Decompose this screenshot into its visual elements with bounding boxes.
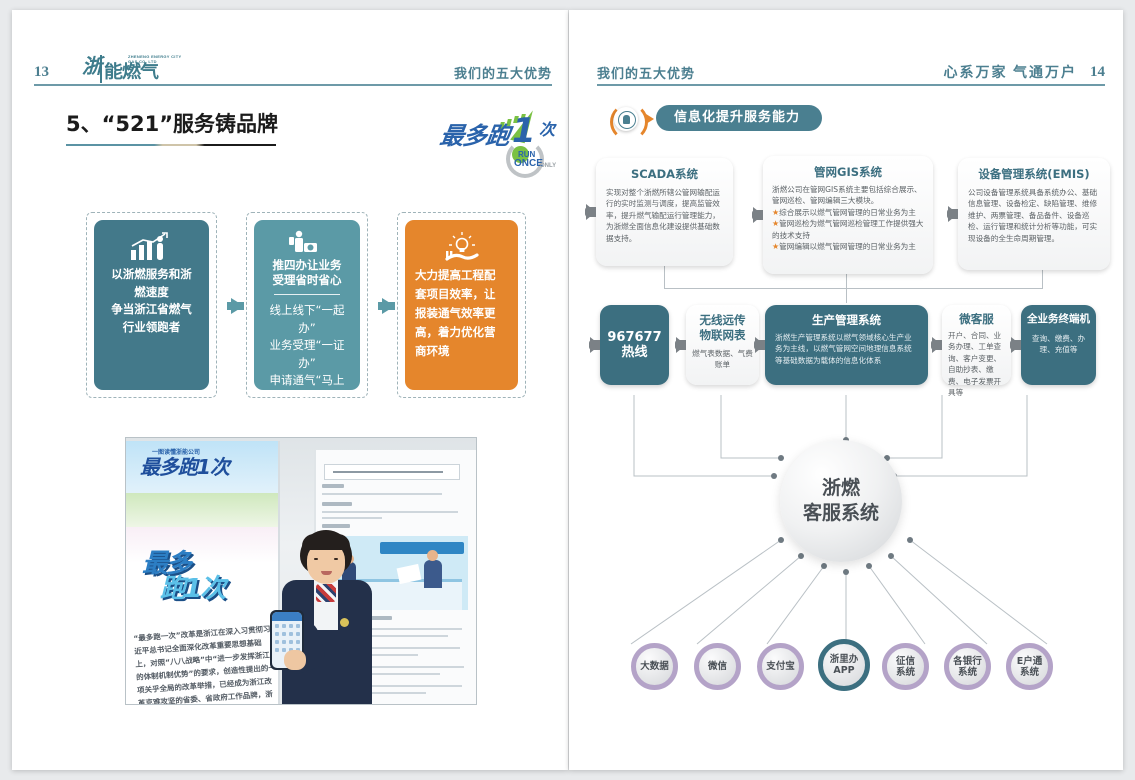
- card-3-body: 大力提高工程配 套项目效率，让 报装通气效率更 高，着力优化营 商环境: [415, 266, 508, 361]
- card-3-line-2: 套项目效率，让: [415, 285, 508, 304]
- card-3[interactable]: 大力提高工程配 套项目效率，让 报装通气效率更 高，着力优化营 商环境: [405, 220, 518, 390]
- card-3-line-5: 商环境: [415, 342, 508, 361]
- connector-scada-down: [664, 266, 665, 288]
- channel-ehutong-line-2: 系统: [1017, 667, 1043, 678]
- photo-customer-head: [427, 550, 438, 561]
- logo-zhe-character: 浙: [82, 57, 102, 77]
- left-page-header: 13 浙 ZHENENG ENERGY CITY GAS CO. LTD 能燃气…: [34, 48, 552, 86]
- node-production-mgmt[interactable]: 生产管理系统 浙燃生产管理系统以燃气领域核心生产业务为主线，以燃气管网空间地理信…: [765, 305, 928, 385]
- node-gis-bullet-1: ★综合展示以燃气管网管理的日常业务为主: [772, 207, 924, 218]
- right-page-header: 我们的五大优势 心系万家 气通万户 14: [597, 48, 1105, 86]
- connector-emis-down: [1042, 270, 1043, 288]
- channel-wechat[interactable]: 微信: [694, 643, 741, 690]
- photo-person-fringe: [302, 534, 350, 550]
- flow-arrow-1: [231, 298, 244, 314]
- channel-big-data[interactable]: 大数据: [631, 643, 678, 690]
- card-1-line-3: 争当浙江省燃气: [104, 301, 199, 319]
- card-2-heading-2: 受理省时省心: [264, 273, 350, 288]
- brand-text-most-run: 最多跑: [438, 124, 510, 148]
- brand-sub-only: ONLY: [540, 162, 556, 171]
- brand-suffix-ci: 次: [539, 122, 555, 138]
- card-3-line-3: 报装通气效率更: [415, 304, 508, 323]
- node-hotline-nub: [590, 337, 600, 353]
- node-gis[interactable]: 管网GIS系统 浙燃公司在管网GIS系统主要包括综合展示、管网巡检、管网编辑三大…: [763, 156, 933, 274]
- node-production-title: 生产管理系统: [775, 313, 918, 328]
- hub-label: 浙燃 客服系统: [803, 476, 879, 526]
- card-3-line-4: 高，着力优化营: [415, 323, 508, 342]
- card-2-heading-1: 推四办让业务: [264, 258, 350, 273]
- channel-banks-label: 各银行 系统: [953, 656, 982, 678]
- node-gis-bullet-2: ★管网巡检为燃气管网巡检管理工作提供强大的技术支持: [772, 218, 924, 241]
- left-section-tag: 我们的五大优势: [454, 67, 552, 80]
- node-emis[interactable]: 设备管理系统(EMIS) 公司设备管理系统具备系统办公、基础信息管理、设备检定、…: [958, 158, 1110, 270]
- node-micro-service-nub: [932, 337, 942, 353]
- channel-credit-system[interactable]: 征信 系统: [882, 643, 929, 690]
- node-hotline-number: 967677: [607, 330, 661, 345]
- node-gis-bullet-3-text: 管网编辑以燃气管网管理的日常业务为主: [779, 242, 916, 251]
- node-hotline[interactable]: 967677 热线: [600, 305, 669, 385]
- node-gis-nub: [753, 207, 763, 223]
- node-gis-text: 浙燃公司在管网GIS系统主要包括综合展示、管网巡检、管网编辑三大模块。: [772, 184, 924, 207]
- channel-credit-label: 征信 系统: [896, 656, 915, 678]
- run-once-only-logo: 最多跑 1 次 RUN ONCE ONLY: [440, 110, 558, 170]
- card-1-line-2: 燃速度: [104, 284, 199, 302]
- node-gis-bullet-1-text: 综合展示以燃气管网管理的日常业务为主: [779, 208, 916, 217]
- photo-customer-figure: [424, 560, 442, 588]
- node-terminal-nub: [1011, 337, 1021, 353]
- channel-credit-line-1: 征信: [896, 656, 915, 667]
- channel-ehutong[interactable]: E户通 系统: [1006, 643, 1053, 690]
- left-page-number: 13: [34, 65, 49, 80]
- node-gis-bullet-3: ★管网编辑以燃气管网管理的日常业务为主: [772, 241, 924, 252]
- left-page: 13 浙 ZHENENG ENERGY CITY GAS CO. LTD 能燃气…: [12, 10, 568, 770]
- photo-slogan-bar: [380, 542, 464, 554]
- node-production-text: 浙燃生产管理系统以燃气领域核心生产业务为主线，以燃气管网空间地理信息系统等基础数…: [775, 332, 918, 366]
- channel-zhelibanapp[interactable]: 浙里办 APP: [818, 639, 870, 691]
- photo-board-text-block-top: [322, 484, 468, 528]
- node-emis-title: 设备管理系统(EMIS): [968, 167, 1100, 182]
- card-2-body: 线上线下“一起办” 业务受理“一证办” 申请通气“马上办” 服务上门“现场办”: [264, 302, 350, 442]
- card-wrapper-2: 推四办让业务 受理省时省心 线上线下“一起办” 业务受理“一证办” 申请通气“马…: [246, 212, 368, 398]
- node-gis-title: 管网GIS系统: [772, 165, 924, 180]
- node-iot-meter[interactable]: 无线远传 物联网表 燃气表数据、气费账单: [686, 305, 759, 385]
- company-logo: 浙 ZHENENG ENERGY CITY GAS CO. LTD 能燃气: [82, 54, 177, 84]
- channel-banks[interactable]: 各银行 系统: [944, 643, 991, 690]
- node-scada-nub: [586, 204, 596, 220]
- channel-alipay-label: 支付宝: [766, 661, 795, 672]
- card-1-line-4: 行业领跑者: [104, 319, 199, 337]
- photo-left-banner: 一图读懂浙能公司 最多跑1次 最多 跑1次 “最多跑一次”改革是浙江在深入习贯彻…: [126, 441, 280, 705]
- node-micro-service[interactable]: 微客服 开户、合同、业务办理、工单查询、客户变更、自助抄表、缴费、电子发票开具等: [942, 305, 1011, 385]
- page-title-underline: [66, 144, 276, 146]
- person-service-icon: [264, 230, 350, 258]
- card-wrapper-3: 大力提高工程配 套项目效率，让 报装通气效率更 高，着力优化营 商环境: [397, 212, 526, 398]
- channel-zhelibanapp-label: 浙里办 APP: [830, 654, 859, 676]
- header-slogan: 心系万家 气通万户: [944, 67, 1078, 81]
- brand-sub-once: ONCE: [514, 159, 543, 168]
- card-2[interactable]: 推四办让业务 受理省时省心 线上线下“一起办” 业务受理“一证办” 申请通气“马…: [254, 220, 360, 390]
- customer-service-hub[interactable]: 浙燃 客服系统: [780, 440, 902, 562]
- card-1[interactable]: 以浙燃服务和浙 燃速度 争当浙江省燃气 行业领跑者: [94, 220, 209, 390]
- page-title: 5、“521”服务铸品牌: [66, 114, 278, 135]
- node-micro-service-title: 微客服: [948, 312, 1005, 327]
- strategy-cards: 以浙燃服务和浙 燃速度 争当浙江省燃气 行业领跑者: [86, 212, 526, 398]
- channel-ehutong-label: E户通 系统: [1017, 656, 1043, 678]
- photo-person-badge: [340, 618, 349, 627]
- hub-label-line-1: 浙燃: [803, 476, 879, 501]
- connector-bus-to-production: [846, 288, 847, 303]
- connector-bus-horizontal: [664, 288, 1043, 289]
- brand-numeral-one: 1: [512, 114, 536, 148]
- bar-chart-growth-icon: [104, 232, 199, 266]
- card-2-line-3: 申请通气“马上办”: [264, 372, 350, 407]
- photo-person-hand: [284, 650, 306, 670]
- header-rule: [34, 84, 552, 86]
- book-spread: 13 浙 ZHENENG ENERGY CITY GAS CO. LTD 能燃气…: [0, 0, 1135, 780]
- node-iot-meter-nub: [676, 337, 686, 353]
- touch-hand-icon: [623, 115, 630, 124]
- node-terminal-title: 全业务终端机: [1027, 312, 1090, 327]
- node-iot-meter-text: 燃气表数据、气费账单: [692, 348, 753, 371]
- card-wrapper-1: 以浙燃服务和浙 燃速度 争当浙江省燃气 行业领跑者: [86, 212, 217, 398]
- node-gis-bullet-2-text: 管网巡检为燃气管网巡检管理工作提供强大的技术支持: [772, 219, 923, 239]
- node-terminal[interactable]: 全业务终端机 查询、缴费、办理、充值等: [1021, 305, 1096, 385]
- channel-alipay[interactable]: 支付宝: [757, 643, 804, 690]
- banner-arrow-icon: [646, 114, 654, 124]
- card-2-divider: [274, 294, 340, 295]
- channel-banks-line-2: 系统: [953, 667, 982, 678]
- photo-banner-grass: [126, 493, 278, 527]
- connector-gis-down: [846, 274, 847, 288]
- channel-big-data-label: 大数据: [640, 661, 669, 672]
- card-2-line-2: 业务受理“一证办”: [264, 337, 350, 372]
- node-terminal-text: 查询、缴费、办理、充值等: [1027, 333, 1090, 356]
- photo-person: [278, 530, 376, 705]
- flow-arrow-2: [382, 298, 395, 314]
- node-scada-title: SCADA系统: [606, 167, 723, 182]
- service-photo: 一图读懂浙能公司 最多跑1次 最多 跑1次 “最多跑一次”改革是浙江在深入习贯彻…: [125, 437, 477, 705]
- channel-credit-line-2: 系统: [896, 667, 915, 678]
- node-micro-service-text: 开户、合同、业务办理、工单查询、客户变更、自助抄表、缴费、电子发票开具等: [948, 330, 1005, 398]
- card-2-line-1: 线上线下“一起办”: [264, 302, 350, 337]
- node-iot-meter-title-1: 无线远传: [692, 313, 753, 328]
- banner-label: 信息化提升服务能力: [656, 105, 822, 131]
- logo-chinese-text: 能燃气: [104, 64, 158, 81]
- photo-banner-3d-title-b: 跑1次: [160, 576, 224, 602]
- right-section-tag: 我们的五大优势: [597, 67, 695, 80]
- hub-label-line-2: 客服系统: [803, 501, 879, 526]
- node-emis-text: 公司设备管理系统具备系统办公、基础信息管理、设备检定、缺陷管理、维修维护、两票管…: [968, 187, 1100, 244]
- node-iot-meter-title-2: 物联网表: [692, 328, 753, 343]
- photo-banner-big-title: 最多跑1次: [140, 457, 229, 477]
- channel-zhelibanapp-line-2: APP: [830, 665, 859, 676]
- lightbulb-hand-icon: [415, 232, 508, 266]
- channel-banks-line-1: 各银行: [953, 656, 982, 667]
- photo-person-scarf: [316, 584, 336, 602]
- node-hotline-label: 热线: [621, 345, 647, 360]
- photo-banner-paragraph: “最多跑一次”改革是浙江在深入习贯彻习近平总书记全面深化改革重要思想基础上，对照…: [133, 622, 279, 705]
- card-3-line-1: 大力提高工程配: [415, 266, 508, 285]
- channel-zhelibanapp-line-1: 浙里办: [830, 654, 859, 665]
- card-1-body: 以浙燃服务和浙 燃速度 争当浙江省燃气 行业领跑者: [104, 266, 199, 336]
- node-emis-nub: [948, 206, 958, 222]
- node-scada[interactable]: SCADA系统 实现对整个浙燃所辖公管网输配运行的实时监测与调度，提高监管效率，…: [596, 158, 733, 266]
- node-scada-text: 实现对整个浙燃所辖公管网输配运行的实时监测与调度，提高监管效率，提升燃气输配运行…: [606, 187, 723, 244]
- photo-phone-app-header: [272, 612, 302, 621]
- node-production-nub: [755, 337, 765, 353]
- right-page-number: 14: [1090, 65, 1105, 80]
- card-1-line-1: 以浙燃服务和浙: [104, 266, 199, 284]
- channel-ehutong-line-1: E户通: [1017, 656, 1043, 667]
- photo-board-title-box: [324, 464, 460, 480]
- header-rule-right: [597, 84, 1105, 86]
- channel-wechat-label: 微信: [708, 661, 727, 672]
